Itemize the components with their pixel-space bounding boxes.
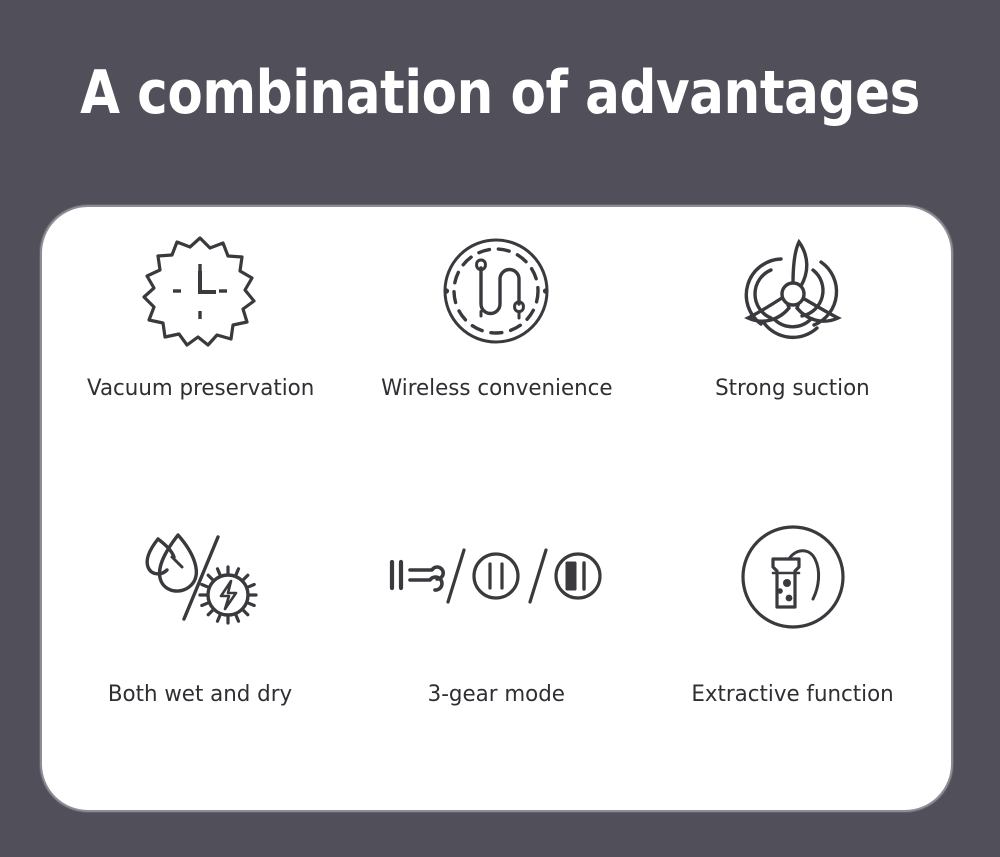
turbine-fan-icon (731, 225, 855, 357)
feature-label: Extractive function (692, 681, 894, 707)
feature-label: Both wet and dry (108, 681, 292, 707)
page-title: A combination of advantages (70, 58, 930, 128)
feature-label: Wireless convenience (381, 375, 613, 401)
features-card: Vacuum preservation (40, 205, 953, 812)
extraction-jar-hose-icon (737, 507, 849, 647)
wet-dry-droplet-bolt-icon (130, 507, 270, 647)
feature-label: Strong suction (716, 375, 871, 401)
feature-item-vacuum-preservation: Vacuum preservation (52, 225, 348, 507)
vacuum-seal-clock-icon (140, 225, 260, 357)
feature-item-strong-suction: Strong suction (645, 225, 941, 507)
three-gear-mode-icon (386, 507, 606, 647)
feature-label: 3-gear mode (428, 681, 565, 707)
feature-item-both-wet-and-dry: Both wet and dry (52, 507, 348, 789)
feature-item-wireless-convenience: Wireless convenience (348, 225, 644, 507)
feature-item-3-gear-mode: 3-gear mode (348, 507, 644, 789)
feature-item-extractive-function: Extractive function (645, 507, 941, 789)
features-grid: Vacuum preservation (42, 207, 951, 810)
promo-page: A combination of advantages Vacuum prese… (0, 0, 1000, 857)
feature-label: Vacuum preservation (86, 375, 313, 401)
wireless-cable-circle-icon (437, 225, 555, 357)
